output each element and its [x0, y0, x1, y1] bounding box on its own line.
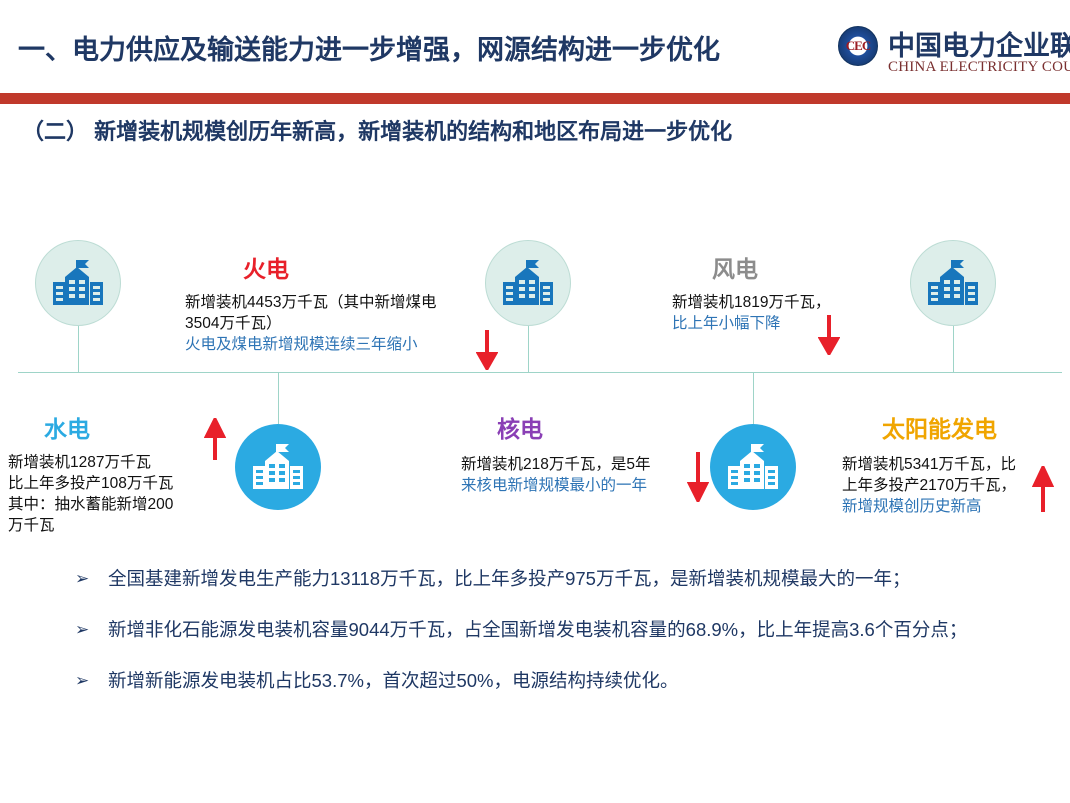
category-title-nuclear: 核电	[497, 410, 543, 444]
timeline-node-4[interactable]	[235, 424, 321, 510]
category-title-hydro: 水电	[44, 410, 90, 444]
timeline-node-3[interactable]	[910, 240, 996, 326]
category-body-wind: 新增装机1819万千瓦， 比上年小幅下降	[672, 292, 872, 334]
arrow-up-icon-solar	[1032, 466, 1054, 512]
bullet-arrow-icon: ➢	[75, 664, 89, 698]
power-plant-building-icon	[926, 258, 980, 308]
cec-seal-monogram: CEC	[846, 38, 870, 54]
thermal-line-2: 3504万千瓦）	[185, 313, 497, 334]
arrow-down-icon-thermal	[476, 330, 498, 370]
page-title: 一、电力供应及输送能力进一步增强，网源结构进一步优化	[18, 28, 720, 67]
category-body-thermal: 新增装机4453万千瓦（其中新增煤电 3504万千瓦） 火电及煤电新增规模连续三…	[185, 292, 497, 355]
timeline-node-1[interactable]	[35, 240, 121, 326]
solar-line-2: 上年多投产2170万千瓦，	[842, 475, 1042, 496]
power-plant-building-icon	[51, 258, 105, 308]
category-body-hydro: 新增装机1287万千瓦 比上年多投产108万千瓦 其中：抽水蓄能新增200 万千…	[8, 452, 228, 536]
solar-line-3: 新增规模创历史新高	[842, 496, 1042, 517]
header-divider	[0, 93, 1070, 104]
nuclear-line-2: 来核电新增规模最小的一年	[461, 475, 697, 496]
hydro-line-1: 新增装机1287万千瓦	[8, 452, 228, 473]
arrow-down-icon-nuclear	[687, 452, 709, 502]
category-body-solar: 新增装机5341万千瓦，比 上年多投产2170万千瓦， 新增规模创历史新高	[842, 454, 1042, 517]
solar-line-1: 新增装机5341万千瓦，比	[842, 454, 1042, 475]
timeline-axis	[18, 372, 1062, 373]
arrow-down-icon-wind	[818, 315, 840, 355]
logo-english-name: CHINA ELECTRICITY COUNCIL	[888, 59, 1070, 76]
category-title-solar: 太阳能发电	[882, 410, 997, 444]
list-item-text: 全国基建新增发电生产能力13118万千瓦，比上年多投产975万千瓦，是新增装机规…	[108, 568, 910, 589]
organization-logo: CEC 中国电力企业联合会 CHINA ELECTRICITY COUNCIL	[838, 24, 1064, 82]
power-plant-building-icon	[726, 442, 780, 492]
nuclear-line-1: 新增装机218万千瓦，是5年	[461, 454, 697, 475]
timeline-node-2[interactable]	[485, 240, 571, 326]
bullet-arrow-icon: ➢	[75, 562, 89, 596]
summary-bullet-list: ➢ 全国基建新增发电生产能力13118万千瓦，比上年多投产975万千瓦，是新增装…	[72, 562, 1062, 715]
wind-line-2: 比上年小幅下降	[672, 313, 872, 334]
section-subtitle: （二） 新增装机规模创历年新高，新增装机的结构和地区布局进一步优化	[22, 114, 732, 146]
list-item-text: 新增非化石能源发电装机容量9044万千瓦，占全国新增发电装机容量的68.9%，比…	[108, 619, 967, 640]
hydro-line-3: 其中：抽水蓄能新增200	[8, 494, 228, 515]
category-body-nuclear: 新增装机218万千瓦，是5年 来核电新增规模最小的一年	[461, 454, 697, 496]
timeline-stem-thermal	[78, 326, 79, 372]
power-plant-building-icon	[501, 258, 555, 308]
slide-header: 一、电力供应及输送能力进一步增强，网源结构进一步优化 CEC 中国电力企业联合会…	[0, 0, 1070, 92]
bullet-arrow-icon: ➢	[75, 613, 89, 647]
timeline-stem-nuclear	[753, 372, 754, 424]
timeline-stem-wind	[528, 326, 529, 372]
list-item: ➢ 新增非化石能源发电装机容量9044万千瓦，占全国新增发电装机容量的68.9%…	[72, 613, 1062, 647]
list-item-text: 新增新能源发电装机占比53.7%，首次超过50%，电源结构持续优化。	[108, 670, 679, 691]
arrow-up-icon-hydro	[204, 418, 226, 460]
logo-chinese-name: 中国电力企业联合会	[888, 24, 1070, 63]
thermal-line-1: 新增装机4453万千瓦（其中新增煤电	[185, 292, 497, 313]
list-item: ➢ 全国基建新增发电生产能力13118万千瓦，比上年多投产975万千瓦，是新增装…	[72, 562, 1062, 596]
timeline-stem-hydro	[278, 372, 279, 424]
hydro-line-2: 比上年多投产108万千瓦	[8, 473, 228, 494]
category-title-wind: 风电	[712, 250, 758, 284]
cec-seal-icon: CEC	[838, 26, 878, 66]
category-title-thermal: 火电	[243, 250, 289, 284]
timeline-stem-right	[953, 326, 954, 372]
installed-capacity-timeline: 火电 新增装机4453万千瓦（其中新增煤电 3504万千瓦） 火电及煤电新增规模…	[0, 170, 1070, 560]
power-plant-building-icon	[251, 442, 305, 492]
wind-line-1: 新增装机1819万千瓦，	[672, 292, 872, 313]
thermal-line-3: 火电及煤电新增规模连续三年缩小	[185, 334, 497, 355]
list-item: ➢ 新增新能源发电装机占比53.7%，首次超过50%，电源结构持续优化。	[72, 664, 1062, 698]
hydro-line-4: 万千瓦	[8, 515, 228, 536]
timeline-node-5[interactable]	[710, 424, 796, 510]
